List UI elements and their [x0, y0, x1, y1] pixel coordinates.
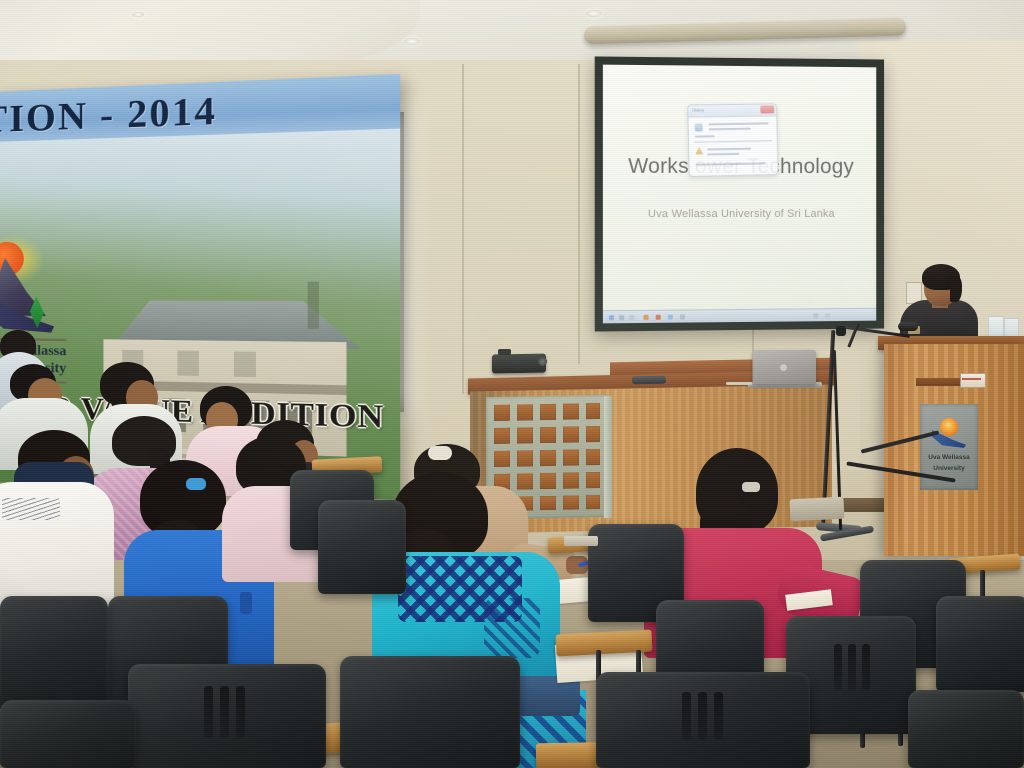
microphone-head	[898, 322, 918, 331]
podium-name-card-accent	[962, 378, 981, 380]
batik-pattern-sleeve	[484, 598, 540, 658]
speaker-hair-side	[950, 276, 962, 302]
desk-edge	[564, 536, 598, 546]
media-icon[interactable]	[668, 315, 673, 320]
close-icon[interactable]	[760, 105, 774, 113]
banner-tower	[308, 282, 319, 329]
wall-seam	[578, 64, 580, 364]
chair[interactable]	[908, 690, 1024, 768]
wall-seam	[462, 64, 464, 394]
dialog-text-line	[707, 153, 739, 156]
warning-icon	[695, 146, 703, 154]
chair[interactable]	[596, 672, 810, 768]
laptop-cable	[726, 382, 752, 385]
dialog-text-line	[707, 148, 751, 151]
remote-control[interactable]	[632, 376, 666, 385]
taskbar-icon[interactable]	[629, 315, 634, 320]
podium-name-card	[960, 373, 986, 388]
chair[interactable]	[128, 664, 326, 768]
ceiling-downlight	[132, 12, 144, 17]
audience-sleeve	[240, 592, 252, 614]
lecture-hall-photo: TION - 2014 ellassa	[0, 0, 1024, 768]
plaque-line1: Uva Wellassa	[920, 452, 978, 463]
chair[interactable]	[340, 656, 520, 768]
folder-icon[interactable]	[644, 315, 649, 320]
dialog-caption: Dialog	[692, 107, 703, 112]
banner-building-window	[234, 351, 256, 377]
dialog-text-line	[695, 162, 765, 165]
projection-screen-frame: Works ower Technology Uva Wellassa Unive…	[595, 56, 884, 331]
projection-screen-surface: Works ower Technology Uva Wellassa Unive…	[603, 65, 876, 324]
hair-clip	[428, 446, 452, 460]
ceiling-downlight	[404, 38, 420, 45]
chair[interactable]	[0, 700, 136, 768]
chair[interactable]	[936, 596, 1024, 692]
plaque-line2: University	[920, 463, 978, 474]
ceiling-downlight	[586, 10, 602, 17]
mic-joint	[836, 326, 846, 336]
browser-icon[interactable]	[656, 315, 661, 320]
tray-icon[interactable]	[825, 313, 830, 318]
start-orb-icon[interactable]	[609, 315, 614, 320]
slide-subtitle: Uva Wellassa University of Sri Lanka	[621, 208, 860, 220]
banner-university-logo	[0, 239, 56, 345]
stage-lattice-edge	[604, 396, 612, 518]
dialog-info-icon	[695, 123, 703, 131]
audience-shirt-print	[2, 498, 60, 520]
floor-box	[789, 497, 844, 522]
laptop-logo-icon	[780, 364, 787, 371]
dialog-separator	[694, 140, 772, 142]
banner-building-window	[177, 351, 199, 376]
tray-icon[interactable]	[813, 313, 818, 318]
hair-tie	[186, 478, 206, 490]
dialog-text-line	[709, 122, 769, 125]
plaque-sun-icon	[940, 418, 958, 436]
taskbar-icon[interactable]	[619, 315, 624, 320]
app-icon[interactable]	[680, 315, 685, 320]
slide-dialog-window[interactable]: Dialog	[687, 103, 778, 177]
projector-lens-icon	[538, 357, 547, 366]
hair-clip	[742, 482, 760, 492]
dialog-text-line	[709, 128, 751, 131]
chair[interactable]	[318, 500, 406, 594]
podium-plaque-text: Uva Wellassa University	[920, 452, 978, 474]
dialog-text-line	[695, 135, 715, 137]
slide-taskbar[interactable]	[603, 308, 876, 324]
projector-top-knob	[498, 349, 511, 355]
chair[interactable]	[0, 596, 108, 714]
